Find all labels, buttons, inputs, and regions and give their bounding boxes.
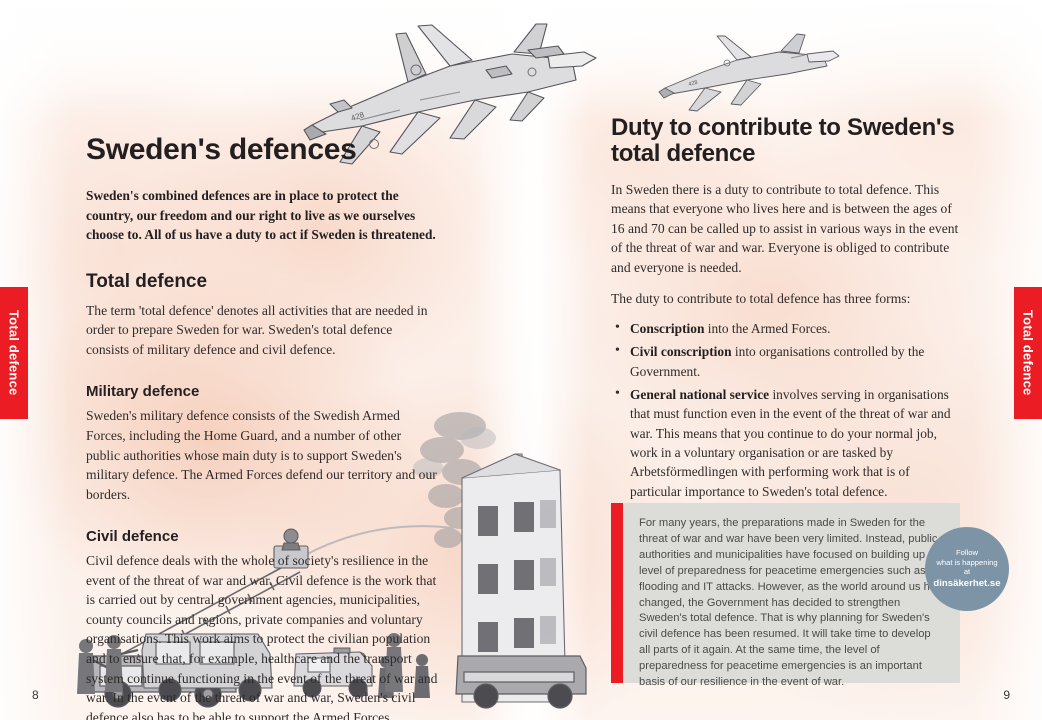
form-term: Civil conscription (630, 344, 732, 359)
body-civil-defence: Civil defence deals with the whole of so… (86, 551, 438, 720)
follow-badge-website: dinsäkerhet.se (933, 578, 1000, 590)
follow-badge-line1: Follow (956, 548, 978, 557)
list-item: General national service involves servin… (630, 385, 959, 501)
follow-badge-line2: what is happening (936, 558, 997, 567)
page-gutter (470, 0, 590, 720)
form-rest: involves serving in organisations that m… (630, 387, 951, 498)
side-tab-label-left: Total defence (7, 310, 22, 395)
info-box-text: For many years, the preparations made in… (623, 503, 960, 683)
svg-text:428: 428 (688, 80, 698, 88)
page-title-left: Sweden's defences (86, 133, 438, 166)
left-page-column: Sweden's defences Sweden's combined defe… (86, 133, 438, 720)
heading-total-defence: Total defence (86, 271, 438, 293)
info-box-red-accent-bar (611, 503, 623, 683)
form-term: Conscription (630, 321, 704, 336)
page-number-right: 9 (1003, 688, 1010, 702)
form-rest: into the Armed Forces. (704, 321, 830, 336)
follow-badge-line3: at (964, 567, 970, 576)
follow-badge[interactable]: Follow what is happening at dinsäkerhet.… (925, 527, 1009, 611)
heading-military-defence: Military defence (86, 383, 438, 400)
forms-intro: The duty to contribute to total defence … (611, 289, 959, 309)
body-duty-intro: In Sweden there is a duty to contribute … (611, 180, 959, 278)
list-item: Civil conscription into organisations co… (630, 342, 959, 381)
info-box: For many years, the preparations made in… (611, 503, 960, 683)
page-number-left: 8 (32, 688, 39, 702)
background-top-fade (0, 0, 1042, 120)
body-military-defence: Sweden's military defence consists of th… (86, 406, 438, 504)
side-tab-label-right: Total defence (1021, 310, 1036, 395)
duty-forms-list: Conscription into the Armed Forces. Civi… (611, 319, 959, 501)
body-total-defence: The term 'total defence' denotes all act… (86, 301, 438, 360)
list-item: Conscription into the Armed Forces. (630, 319, 959, 338)
gripen-fighter-jet-small-icon: 428 (655, 28, 840, 118)
side-tab-total-defence-right[interactable]: Total defence (1014, 287, 1042, 419)
side-tab-total-defence-left[interactable]: Total defence (0, 287, 28, 419)
lead-paragraph: Sweden's combined defences are in place … (86, 186, 438, 245)
form-term: General national service (630, 387, 769, 402)
heading-civil-defence: Civil defence (86, 528, 438, 545)
document-spread: 428 428 (0, 0, 1042, 720)
page-title-right: Duty to contribute to Sweden's total def… (611, 115, 959, 168)
svg-text:428: 428 (350, 110, 366, 123)
